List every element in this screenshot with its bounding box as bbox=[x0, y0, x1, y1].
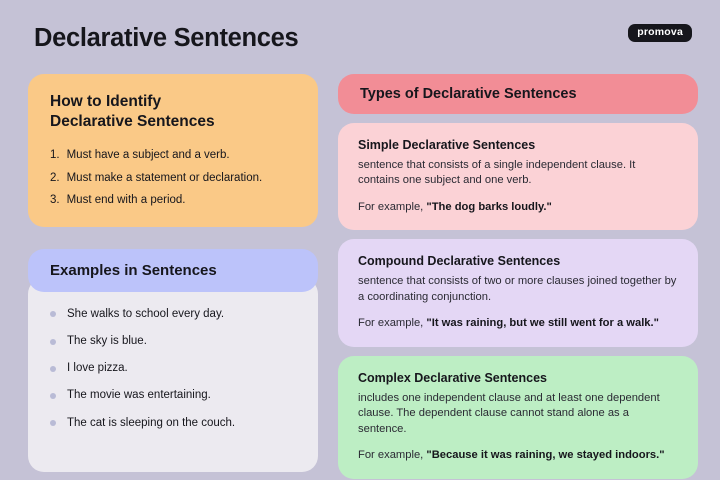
examples-section: Examples in Sentences She walks to schoo… bbox=[28, 249, 318, 472]
bullet-dot-icon bbox=[50, 366, 56, 372]
list-item: The movie was entertaining. bbox=[50, 389, 300, 402]
card-title: Complex Declarative Sentences bbox=[358, 371, 678, 385]
list-item-text: Must make a statement or declaration. bbox=[67, 172, 263, 185]
list-item: The sky is blue. bbox=[50, 335, 300, 348]
list-item: 2. Must make a statement or declaration. bbox=[50, 172, 298, 185]
simple-declarative-card: Simple Declarative Sentences sentence th… bbox=[338, 123, 698, 230]
examples-list: She walks to school every day. The sky i… bbox=[50, 308, 300, 430]
list-item-text: She walks to school every day. bbox=[67, 308, 224, 321]
list-item-number: 2. bbox=[50, 172, 60, 185]
content-columns: How to Identify Declarative Sentences 1.… bbox=[28, 74, 698, 479]
promova-logo: promova bbox=[628, 24, 692, 42]
card-example-prefix: For example, bbox=[358, 449, 426, 461]
list-item-text: The movie was entertaining. bbox=[67, 389, 211, 402]
examples-body: She walks to school every day. The sky i… bbox=[28, 278, 318, 472]
bullet-dot-icon bbox=[50, 311, 56, 317]
card-title: Compound Declarative Sentences bbox=[358, 254, 678, 268]
types-header: Types of Declarative Sentences bbox=[338, 74, 698, 114]
bullet-dot-icon bbox=[50, 339, 56, 345]
how-to-identify-title-line2: Declarative Sentences bbox=[50, 112, 298, 132]
card-example-quote: "The dog barks loudly." bbox=[426, 201, 551, 213]
list-item: I love pizza. bbox=[50, 362, 300, 375]
card-description: sentence that consists of two or more cl… bbox=[358, 274, 678, 305]
list-item: The cat is sleeping on the couch. bbox=[50, 417, 300, 430]
list-item-text: I love pizza. bbox=[67, 362, 128, 375]
left-column: How to Identify Declarative Sentences 1.… bbox=[28, 74, 318, 479]
list-item: 1. Must have a subject and a verb. bbox=[50, 149, 298, 162]
how-to-identify-card: How to Identify Declarative Sentences 1.… bbox=[28, 74, 318, 227]
list-item: She walks to school every day. bbox=[50, 308, 300, 321]
how-to-identify-title-line1: How to Identify bbox=[50, 92, 298, 112]
card-example-prefix: For example, bbox=[358, 201, 426, 213]
list-item-text: The cat is sleeping on the couch. bbox=[67, 417, 235, 430]
right-column: Types of Declarative Sentences Simple De… bbox=[338, 74, 698, 479]
card-description: includes one independent clause and at l… bbox=[358, 391, 678, 437]
card-title: Simple Declarative Sentences bbox=[358, 138, 678, 152]
card-example-prefix: For example, bbox=[358, 317, 426, 329]
list-item: 3. Must end with a period. bbox=[50, 194, 298, 207]
bullet-dot-icon bbox=[50, 393, 56, 399]
complex-declarative-card: Complex Declarative Sentences includes o… bbox=[338, 356, 698, 479]
card-example: For example, "It was raining, but we sti… bbox=[358, 316, 678, 331]
card-example: For example, "Because it was raining, we… bbox=[358, 448, 678, 463]
card-example-quote: "Because it was raining, we stayed indoo… bbox=[426, 449, 664, 461]
list-item-text: The sky is blue. bbox=[67, 335, 147, 348]
card-example-quote: "It was raining, but we still went for a… bbox=[426, 317, 659, 329]
card-description: sentence that consists of a single indep… bbox=[358, 158, 678, 189]
page-title: Declarative Sentences bbox=[34, 24, 298, 53]
bullet-dot-icon bbox=[50, 420, 56, 426]
infographic-page: Declarative Sentences promova How to Ide… bbox=[0, 0, 720, 480]
how-to-identify-list: 1. Must have a subject and a verb. 2. Mu… bbox=[50, 149, 298, 207]
compound-declarative-card: Compound Declarative Sentences sentence … bbox=[338, 239, 698, 346]
list-item-text: Must have a subject and a verb. bbox=[67, 149, 230, 162]
how-to-identify-title: How to Identify Declarative Sentences bbox=[50, 92, 298, 133]
list-item-number: 3. bbox=[50, 194, 60, 207]
card-example: For example, "The dog barks loudly." bbox=[358, 200, 678, 215]
list-item-text: Must end with a period. bbox=[67, 194, 186, 207]
page-header: Declarative Sentences promova bbox=[28, 18, 698, 62]
list-item-number: 1. bbox=[50, 149, 60, 162]
examples-header: Examples in Sentences bbox=[28, 249, 318, 292]
